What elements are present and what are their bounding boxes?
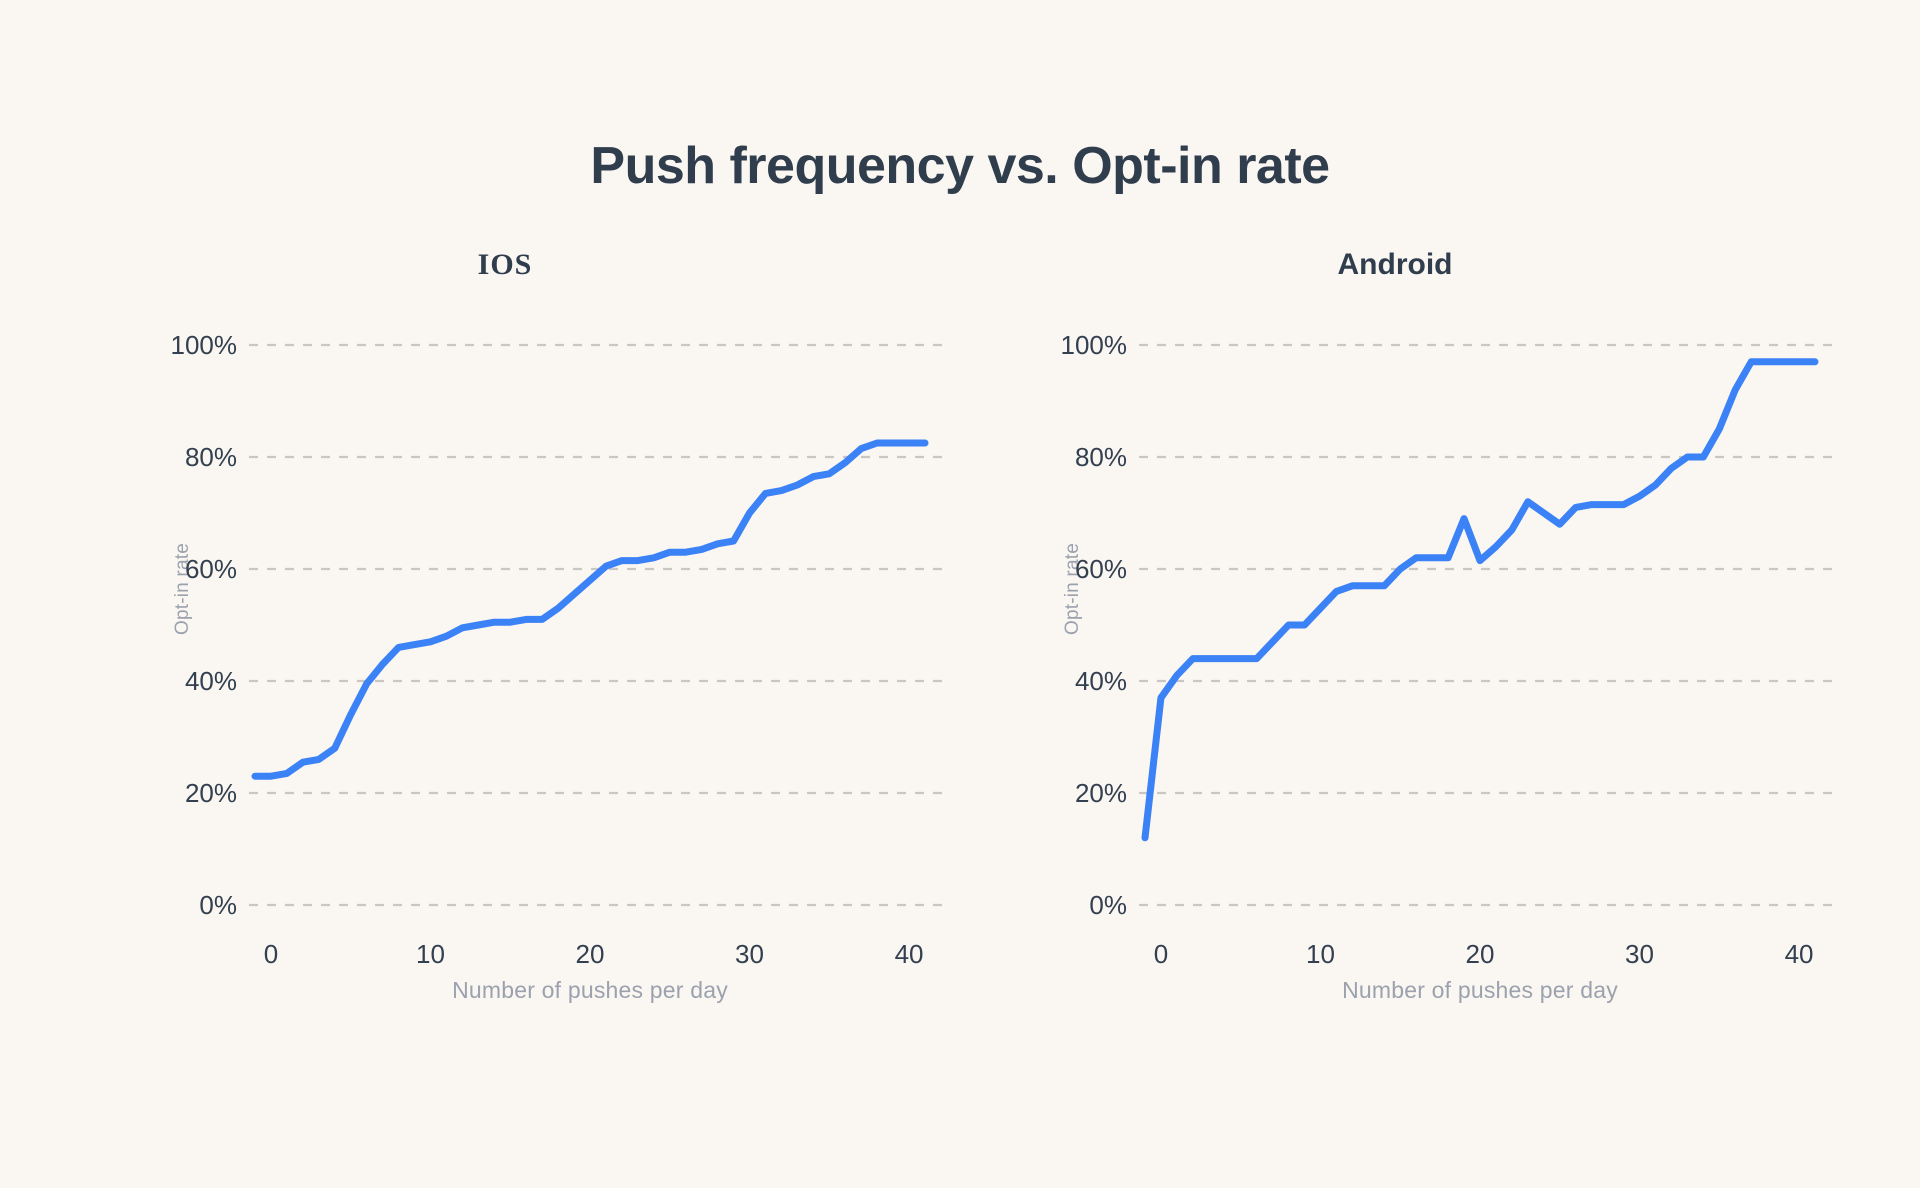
y-axis-tick-label: 40% (1017, 668, 1127, 694)
panel-ios: IOS Opt-in rate Number of pushes per day… (40, 250, 970, 1040)
x-axis-title-ios: Number of pushes per day (270, 977, 910, 1004)
x-axis-tick-label: 10 (1280, 941, 1360, 967)
y-axis-tick-label: 100% (127, 332, 237, 358)
x-axis-tick-label: 20 (550, 941, 630, 967)
x-axis-tick-label: 20 (1440, 941, 1520, 967)
x-axis-tick-label: 10 (390, 941, 470, 967)
page-title: Push frequency vs. Opt-in rate (0, 140, 1920, 192)
y-axis-tick-label: 0% (1017, 892, 1127, 918)
x-axis-tick-label: 30 (710, 941, 790, 967)
panel-title-android: Android (930, 250, 1860, 280)
x-axis-title-android: Number of pushes per day (1160, 977, 1800, 1004)
y-axis-tick-label: 40% (127, 668, 237, 694)
panel-title-ios: IOS (40, 250, 970, 280)
data-series-line (1145, 362, 1815, 838)
x-axis-tick-label: 30 (1600, 941, 1680, 967)
plot-area-android: Opt-in rate Number of pushes per day 0%2… (930, 305, 1860, 1040)
y-axis-tick-label: 20% (127, 780, 237, 806)
y-axis-tick-label: 100% (1017, 332, 1127, 358)
y-axis-tick-label: 80% (127, 444, 237, 470)
panel-android: Android Opt-in rate Number of pushes per… (930, 250, 1860, 1040)
x-axis-tick-label: 0 (1121, 941, 1201, 967)
chart-page: Push frequency vs. Opt-in rate IOS Opt-i… (0, 0, 1920, 1188)
y-axis-tick-label: 60% (1017, 556, 1127, 582)
y-axis-tick-label: 20% (1017, 780, 1127, 806)
data-series-line (255, 443, 925, 776)
y-axis-tick-label: 0% (127, 892, 237, 918)
y-axis-tick-label: 80% (1017, 444, 1127, 470)
x-axis-tick-label: 40 (1759, 941, 1839, 967)
x-axis-tick-label: 0 (231, 941, 311, 967)
y-axis-tick-label: 60% (127, 556, 237, 582)
plot-area-ios: Opt-in rate Number of pushes per day 0%2… (40, 305, 970, 1040)
